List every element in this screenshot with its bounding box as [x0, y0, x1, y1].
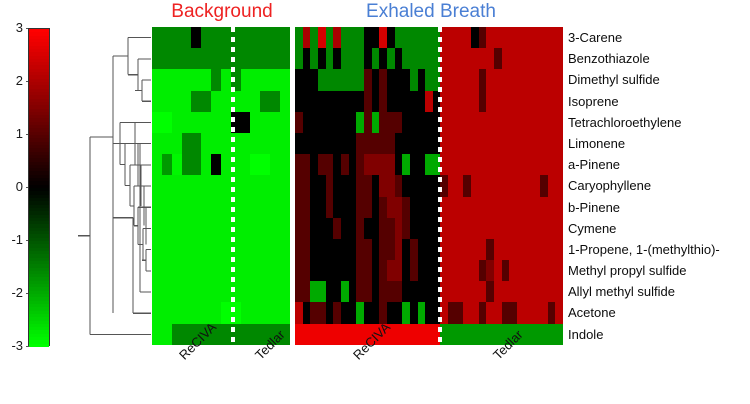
heatmap-cell — [326, 324, 334, 345]
heatmap-cell — [250, 48, 260, 69]
heatmap-cell — [525, 324, 533, 345]
heatmap-cell — [349, 175, 357, 196]
heatmap-cell — [471, 154, 479, 175]
heatmap-cell — [356, 260, 364, 281]
heatmap-cell — [517, 175, 525, 196]
heatmap-cell — [364, 281, 372, 302]
heatmap-cell — [172, 302, 182, 323]
heatmap-cell — [270, 218, 280, 239]
heatmap-cell — [418, 260, 426, 281]
heatmap-cell — [191, 197, 201, 218]
heatmap-cell — [532, 133, 540, 154]
heatmap-cell — [356, 218, 364, 239]
color-scale-tick-label: 0 — [16, 181, 23, 193]
heatmap-cell — [555, 112, 563, 133]
heatmap-cell — [241, 324, 251, 345]
row-label: Caryophyllene — [568, 175, 750, 196]
heatmap-cell — [418, 133, 426, 154]
heatmap-cell — [448, 154, 456, 175]
heatmap-cell — [295, 154, 303, 175]
row-label: Benzothiazole — [568, 48, 750, 69]
heatmap-cell — [191, 260, 201, 281]
heatmap-cell — [295, 48, 303, 69]
heatmap-cell — [152, 133, 162, 154]
heatmap-cell — [241, 239, 251, 260]
heatmap-cell — [356, 239, 364, 260]
heatmap-cell — [486, 91, 494, 112]
heatmap-cell — [425, 218, 433, 239]
heatmap-cell — [502, 91, 510, 112]
heatmap-cell — [201, 281, 211, 302]
heatmap-cell — [221, 154, 231, 175]
heatmap-cell — [241, 197, 251, 218]
heatmap-cell — [211, 48, 221, 69]
heatmap-cell — [221, 260, 231, 281]
heatmap-cell — [479, 218, 487, 239]
heatmap-cell — [162, 302, 172, 323]
heatmap-cell — [410, 197, 418, 218]
row-label: Limonene — [568, 133, 750, 154]
heatmap-cell — [418, 324, 426, 345]
heatmap-cell — [260, 48, 270, 69]
heatmap-cell — [241, 218, 251, 239]
heatmap-cell — [162, 133, 172, 154]
heatmap-cell — [532, 218, 540, 239]
heatmap-cell — [509, 302, 517, 323]
heatmap-cell — [318, 239, 326, 260]
heatmap-cell — [486, 281, 494, 302]
heatmap-cell — [201, 154, 211, 175]
heatmap-row — [152, 27, 290, 48]
heatmap-row — [295, 69, 563, 90]
heatmap-cell — [364, 154, 372, 175]
heatmap-cell — [418, 27, 426, 48]
heatmap-cell — [418, 154, 426, 175]
heatmap-cell — [494, 154, 502, 175]
heatmap-cell — [250, 112, 260, 133]
heatmap-cell — [318, 48, 326, 69]
heatmap-cell — [356, 91, 364, 112]
heatmap-cell — [270, 27, 280, 48]
heatmap-cell — [425, 69, 433, 90]
heatmap-cell — [456, 112, 464, 133]
heatmap-cell — [395, 133, 403, 154]
heatmap-cell — [349, 239, 357, 260]
heatmap-cell — [548, 197, 556, 218]
heatmap-cell — [310, 112, 318, 133]
heatmap-cell — [548, 260, 556, 281]
heatmap-cell — [182, 197, 192, 218]
heatmap-cell — [295, 302, 303, 323]
heatmap-cell — [303, 302, 311, 323]
heatmap-cell — [341, 69, 349, 90]
heatmap-cell — [555, 281, 563, 302]
heatmap-cell — [471, 91, 479, 112]
heatmap-cell — [326, 197, 334, 218]
heatmap-cell — [425, 133, 433, 154]
heatmap-cell — [463, 133, 471, 154]
heatmap-cell — [532, 175, 540, 196]
heatmap-cell — [201, 133, 211, 154]
heatmap-cell — [349, 302, 357, 323]
heatmap-cell — [502, 281, 510, 302]
heatmap-cell — [303, 324, 311, 345]
heatmap-cell — [356, 48, 364, 69]
heatmap-cell — [280, 27, 290, 48]
heatmap-cell — [303, 197, 311, 218]
heatmap-cell — [270, 197, 280, 218]
heatmap-cell — [303, 112, 311, 133]
heatmap-row — [295, 239, 563, 260]
heatmap-cell — [532, 324, 540, 345]
heatmap-cell — [182, 69, 192, 90]
heatmap-cell — [402, 69, 410, 90]
heatmap-cell — [191, 218, 201, 239]
heatmap-cell — [364, 239, 372, 260]
heatmap-cell — [250, 197, 260, 218]
heatmap-cell — [162, 112, 172, 133]
heatmap-cell — [525, 133, 533, 154]
heatmap-cell — [364, 197, 372, 218]
heatmap-cell — [410, 302, 418, 323]
heatmap-cell — [372, 218, 380, 239]
heatmap-cell — [402, 112, 410, 133]
heatmap-cell — [494, 218, 502, 239]
heatmap-cell — [379, 91, 387, 112]
heatmap-cell — [502, 218, 510, 239]
heatmap-cell — [548, 48, 556, 69]
heatmap-cell — [463, 302, 471, 323]
heatmap-cell — [525, 302, 533, 323]
heatmap-cell — [280, 91, 290, 112]
heatmap-cell — [425, 260, 433, 281]
heatmap-cell — [509, 197, 517, 218]
heatmap-cell — [502, 175, 510, 196]
heatmap-cell — [402, 302, 410, 323]
heatmap-cell — [211, 218, 221, 239]
heatmap-cell — [310, 133, 318, 154]
heatmap-cell — [517, 218, 525, 239]
heatmap-cell — [341, 302, 349, 323]
heatmap-cell — [211, 91, 221, 112]
heatmap-cell — [295, 112, 303, 133]
heatmap-cell — [548, 175, 556, 196]
heatmap-cell — [479, 133, 487, 154]
heatmap-cell — [260, 260, 270, 281]
heatmap-cell — [379, 239, 387, 260]
color-scale-tick-label: 1 — [16, 128, 23, 140]
heatmap-cell — [448, 112, 456, 133]
heatmap-cell — [152, 281, 162, 302]
heatmap-row — [295, 197, 563, 218]
heatmap-cell — [172, 27, 182, 48]
heatmap-cell — [364, 133, 372, 154]
heatmap-cell — [425, 154, 433, 175]
heatmap-cell — [211, 112, 221, 133]
heatmap-cell — [509, 69, 517, 90]
heatmap-row — [295, 302, 563, 323]
heatmap-cell — [502, 154, 510, 175]
heatmap-cell — [479, 281, 487, 302]
heatmap-cell — [221, 239, 231, 260]
heatmap-cell — [172, 281, 182, 302]
heatmap-cell — [425, 324, 433, 345]
heatmap-cell — [509, 175, 517, 196]
heatmap-cell — [448, 281, 456, 302]
heatmap-cell — [418, 91, 426, 112]
heatmap-cell — [182, 48, 192, 69]
heatmap-cell — [463, 175, 471, 196]
heatmap-cell — [152, 239, 162, 260]
heatmap-cell — [303, 27, 311, 48]
heatmap-cell — [410, 324, 418, 345]
heatmap-cell — [517, 48, 525, 69]
heatmap-cell — [402, 197, 410, 218]
heatmap-cell — [555, 175, 563, 196]
heatmap-cell — [280, 133, 290, 154]
heatmap-cell — [172, 197, 182, 218]
heatmap-cell — [555, 48, 563, 69]
heatmap-cell — [379, 69, 387, 90]
heatmap-cell — [326, 69, 334, 90]
heatmap-cell — [318, 154, 326, 175]
heatmap-cell — [326, 91, 334, 112]
heatmap-cell — [172, 260, 182, 281]
heatmap-cell — [318, 91, 326, 112]
heatmap-cell — [418, 302, 426, 323]
heatmap-cell — [448, 133, 456, 154]
heatmap-cell — [162, 324, 172, 345]
heatmap-cell — [471, 260, 479, 281]
row-label: Dimethyl sulfide — [568, 69, 750, 90]
heatmap-cell — [471, 69, 479, 90]
heatmap-cell — [326, 112, 334, 133]
heatmap-cell — [540, 281, 548, 302]
heatmap-cell — [372, 112, 380, 133]
heatmap-cell — [456, 154, 464, 175]
heatmap-cell — [364, 175, 372, 196]
heatmap-cell — [479, 302, 487, 323]
heatmap-cell — [402, 27, 410, 48]
heatmap-cell — [295, 260, 303, 281]
heatmap-cell — [395, 112, 403, 133]
heatmap-cell — [349, 27, 357, 48]
heatmap-cell — [310, 27, 318, 48]
heatmap-cell — [548, 239, 556, 260]
heatmap-cell — [303, 175, 311, 196]
heatmap-cell — [471, 27, 479, 48]
heatmap-cell — [280, 154, 290, 175]
heatmap-cell — [402, 260, 410, 281]
heatmap-cell — [349, 197, 357, 218]
heatmap-cell — [418, 175, 426, 196]
heatmap-cell — [395, 218, 403, 239]
heatmap-cell — [260, 133, 270, 154]
heatmap-cell — [295, 91, 303, 112]
heatmap-cell — [182, 154, 192, 175]
heatmap-cell — [379, 197, 387, 218]
heatmap-cell — [280, 260, 290, 281]
heatmap-cell — [364, 91, 372, 112]
heatmap-cell — [494, 133, 502, 154]
heatmap-cell — [295, 27, 303, 48]
heatmap-cell — [448, 69, 456, 90]
heatmap-cell — [270, 239, 280, 260]
heatmap-cell — [479, 175, 487, 196]
heatmap-cell — [540, 239, 548, 260]
heatmap-cell — [349, 91, 357, 112]
heatmap-cell — [517, 281, 525, 302]
heatmap-cell — [379, 260, 387, 281]
heatmap-cell — [152, 69, 162, 90]
heatmap-cell — [395, 48, 403, 69]
heatmap-row — [295, 175, 563, 196]
row-label: Indole — [568, 324, 750, 345]
heatmap-cell — [250, 175, 260, 196]
heatmap-cell — [509, 218, 517, 239]
heatmap-cell — [182, 260, 192, 281]
heatmap-cell — [356, 27, 364, 48]
heatmap-cell — [456, 218, 464, 239]
heatmap-cell — [201, 27, 211, 48]
heatmap-cell — [471, 324, 479, 345]
heatmap-cell — [479, 260, 487, 281]
heatmap-cell — [463, 27, 471, 48]
heatmap-cell — [502, 133, 510, 154]
heatmap-cell — [494, 112, 502, 133]
heatmap-cell — [260, 302, 270, 323]
heatmap-cell — [191, 27, 201, 48]
heatmap-cell — [402, 91, 410, 112]
heatmap-cell — [211, 69, 221, 90]
heatmap-cell — [364, 112, 372, 133]
heatmap-cell — [372, 154, 380, 175]
heatmap-cell — [250, 133, 260, 154]
heatmap-cell — [303, 48, 311, 69]
heatmap-cell — [555, 218, 563, 239]
heatmap-cell — [463, 281, 471, 302]
heatmap-cell — [525, 112, 533, 133]
heatmap-cell — [425, 281, 433, 302]
heatmap-cell — [356, 112, 364, 133]
heatmap-cell — [486, 27, 494, 48]
heatmap-cell — [201, 239, 211, 260]
heatmap-cell — [310, 69, 318, 90]
heatmap-cell — [448, 218, 456, 239]
heatmap-row — [152, 197, 290, 218]
heatmap-cell — [152, 27, 162, 48]
heatmap-cell — [494, 91, 502, 112]
heatmap-cell — [532, 69, 540, 90]
heatmap-cell — [479, 239, 487, 260]
heatmap-cell — [448, 175, 456, 196]
heatmap-cell — [517, 154, 525, 175]
heatmap-row — [152, 154, 290, 175]
heatmap-cell — [295, 218, 303, 239]
heatmap-cell — [463, 112, 471, 133]
color-scale-axis: 3210-1-2-3 — [0, 20, 26, 354]
heatmap-cell — [486, 154, 494, 175]
row-label: Cymene — [568, 218, 750, 239]
heatmap-cell — [162, 281, 172, 302]
heatmap-cell — [387, 302, 395, 323]
heatmap-cell — [318, 281, 326, 302]
heatmap-cell — [540, 302, 548, 323]
heatmap-cell — [221, 324, 231, 345]
heatmap-cell — [379, 27, 387, 48]
row-label: 1-Propene, 1-(methylthio)- — [568, 239, 750, 260]
heatmap-cell — [548, 154, 556, 175]
heatmap-cell — [532, 302, 540, 323]
heatmap-cell — [152, 260, 162, 281]
heatmap-cell — [318, 260, 326, 281]
heatmap-cell — [211, 302, 221, 323]
heatmap-cell — [463, 239, 471, 260]
heatmap-cell — [326, 239, 334, 260]
heatmap-cell — [456, 302, 464, 323]
heatmap-cell — [303, 91, 311, 112]
heatmap-cell — [280, 112, 290, 133]
heatmap-cell — [387, 91, 395, 112]
heatmap-cell — [152, 112, 162, 133]
heatmap-cell — [172, 239, 182, 260]
heatmap-cell — [211, 239, 221, 260]
heatmap-cell — [191, 175, 201, 196]
heatmap-cell — [532, 154, 540, 175]
heatmap-row — [295, 27, 563, 48]
heatmap-cell — [310, 281, 318, 302]
heatmap-cell — [162, 91, 172, 112]
color-scale-tick-label: 2 — [16, 75, 23, 87]
heatmap-cell — [525, 69, 533, 90]
heatmap-cell — [418, 69, 426, 90]
heatmap-cell — [241, 91, 251, 112]
heatmap-cell — [270, 112, 280, 133]
heatmap-cell — [333, 69, 341, 90]
heatmap-cell — [303, 69, 311, 90]
heatmap-cell — [241, 302, 251, 323]
heatmap-cell — [379, 281, 387, 302]
heatmap-cell — [326, 218, 334, 239]
heatmap-cell — [310, 154, 318, 175]
heatmap-cell — [162, 69, 172, 90]
heatmap-cell — [303, 218, 311, 239]
heatmap-row — [152, 91, 290, 112]
heatmap-cell — [364, 48, 372, 69]
heatmap-cell — [162, 175, 172, 196]
heatmap-cell — [318, 175, 326, 196]
heatmap-cell — [425, 175, 433, 196]
heatmap-cell — [191, 239, 201, 260]
panel-title-exhaled-breath: Exhaled Breath — [300, 1, 562, 23]
heatmap-cell — [260, 112, 270, 133]
heatmap-row — [295, 218, 563, 239]
heatmap-cell — [172, 48, 182, 69]
heatmap-cell — [333, 91, 341, 112]
heatmap-cell — [364, 302, 372, 323]
heatmap-cell — [555, 197, 563, 218]
heatmap-cell — [486, 260, 494, 281]
heatmap-cell — [525, 154, 533, 175]
heatmap-row — [295, 112, 563, 133]
heatmap-cell — [479, 48, 487, 69]
heatmap-cell — [326, 27, 334, 48]
heatmap-cell — [509, 239, 517, 260]
heatmap-cell — [486, 69, 494, 90]
heatmap-cell — [211, 260, 221, 281]
heatmap-cell — [509, 281, 517, 302]
heatmap-cell — [372, 133, 380, 154]
